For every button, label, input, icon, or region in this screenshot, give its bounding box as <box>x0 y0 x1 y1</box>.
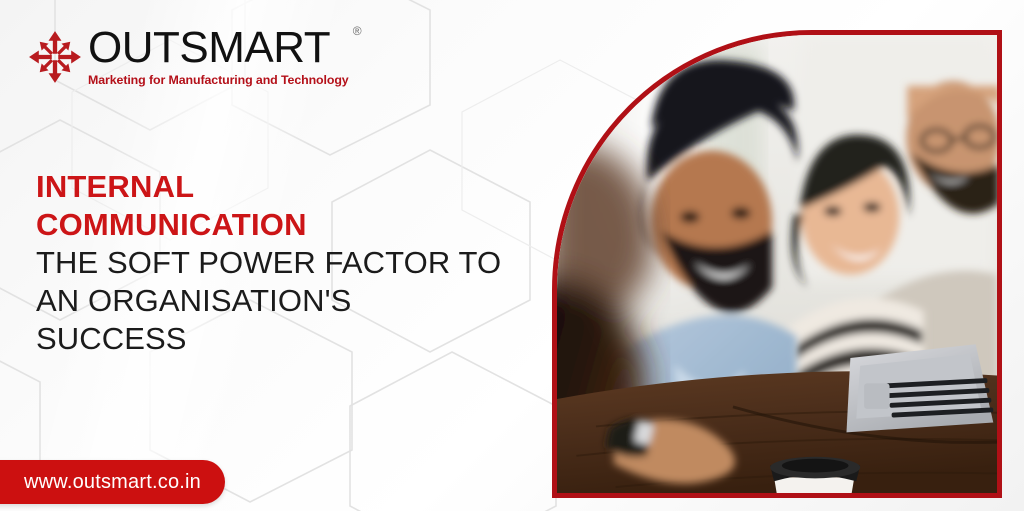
website-url-text: www.outsmart.co.in <box>24 471 201 494</box>
headline-line-2: COMMUNICATION <box>36 206 536 244</box>
brand-logo[interactable]: OUTSMART ® Marketing for Manufacturing a… <box>28 26 349 87</box>
team-meeting-illustration <box>557 35 997 493</box>
registered-trademark-icon: ® <box>353 24 362 38</box>
headline-line-1: INTERNAL <box>36 168 536 206</box>
marketing-banner: OUTSMART ® Marketing for Manufacturing a… <box>0 0 1024 511</box>
headline-line-3: THE SOFT POWER FACTOR TO <box>36 244 536 282</box>
team-meeting-photo <box>557 35 997 493</box>
brand-wordmark: OUTSMART <box>88 26 349 70</box>
brand-tagline: Marketing for Manufacturing and Technolo… <box>88 73 349 87</box>
headline-block: INTERNAL COMMUNICATION THE SOFT POWER FA… <box>36 168 536 358</box>
outsmart-arrow-burst-logo-icon <box>28 30 82 84</box>
brand-logo-text: OUTSMART ® Marketing for Manufacturing a… <box>88 26 349 87</box>
headline-line-4: AN ORGANISATION'S <box>36 282 536 320</box>
headline-line-5: SUCCESS <box>36 320 536 358</box>
website-url-pill[interactable]: www.outsmart.co.in <box>0 460 225 504</box>
photo-frame <box>552 30 1002 498</box>
